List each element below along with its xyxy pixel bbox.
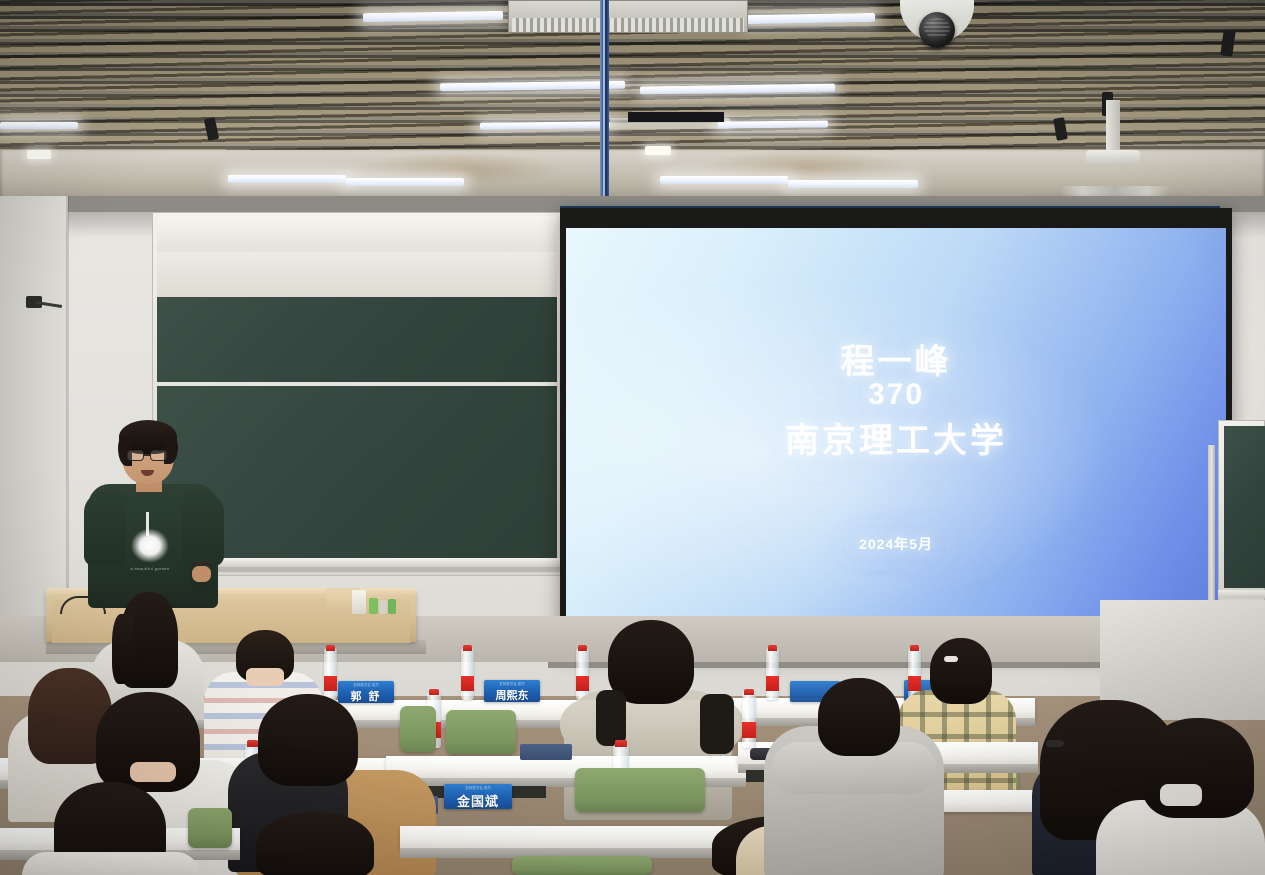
- ceiling-light-louver: [512, 18, 744, 32]
- downlight: [645, 146, 671, 155]
- audience-person-hair: [930, 638, 992, 704]
- chair[interactable]: [446, 710, 516, 754]
- bottle-cap: [744, 689, 754, 695]
- bottle-cap: [429, 689, 439, 695]
- nameplate-name: 郭 舒: [338, 688, 394, 704]
- marker-pen: [369, 598, 378, 614]
- ceiling-light-tube: [718, 120, 828, 128]
- shirt-graphic-caption: a beautiful garden: [124, 566, 176, 571]
- ceiling-light-tube: [0, 122, 78, 129]
- slide-date: 2024年5月: [566, 534, 1226, 554]
- dome-camera-ridges: [924, 18, 950, 38]
- blackboard-right-panel: [1224, 426, 1265, 588]
- audience-person-hair: [818, 678, 900, 756]
- blackboard-right-rail: [1218, 590, 1265, 598]
- wall-left-panel: [0, 196, 68, 616]
- shirt-graphic: [127, 518, 171, 564]
- blackboard-panel-upper: [157, 297, 557, 382]
- audience-person-neck: [130, 762, 176, 782]
- presenter-glasses-bridge: [144, 454, 150, 456]
- audience-person-hair: [112, 614, 134, 684]
- cup: [352, 590, 366, 614]
- audience-person-neck: [246, 668, 284, 686]
- ceiling-light-recess: [628, 112, 724, 122]
- blackboard-top-panel: [157, 216, 557, 252]
- bottle-cap: [326, 645, 335, 651]
- ceiling-light-tube: [228, 175, 346, 183]
- audience-person-hair: [258, 694, 358, 786]
- desk-row-front: [400, 826, 760, 850]
- nameplate-name: 周熙东: [484, 687, 540, 703]
- bottle-label: [461, 676, 474, 691]
- bottle-label: [576, 676, 589, 691]
- chair[interactable]: [512, 856, 652, 875]
- water-bottle: [766, 648, 779, 700]
- wall-edge: [66, 196, 69, 616]
- presenter-hand: [192, 566, 211, 582]
- bottle-cap: [910, 645, 919, 651]
- bottle-cap: [578, 645, 587, 651]
- ceiling-light-tube: [788, 180, 918, 188]
- audience-person-glasses-icon: [944, 656, 958, 662]
- presenter-glasses-icon: [150, 450, 167, 461]
- chair[interactable]: [575, 768, 705, 812]
- audience-person-glasses-icon: [1046, 740, 1064, 747]
- bottle-label: [324, 676, 337, 691]
- slide-presenter-name: 程一峰: [566, 334, 1226, 383]
- bottle-cap: [463, 645, 472, 651]
- water-bottle: [324, 648, 337, 700]
- presenter-glasses-icon: [127, 450, 144, 461]
- chair[interactable]: [188, 808, 232, 848]
- ceiling-light-tube: [660, 176, 788, 184]
- ceiling-light-tube: [480, 121, 610, 129]
- chair[interactable]: [400, 706, 436, 752]
- marker-pen: [388, 599, 396, 614]
- folder: [520, 744, 572, 760]
- lecture-hall-photo: EPSON 南 京 理 工 大 学 材料科学与工程学院 NANJING UNIV…: [0, 0, 1265, 875]
- audience-person-body: [22, 852, 200, 875]
- blackboard-slide-track: [157, 252, 557, 297]
- slide-number: 370: [566, 378, 1226, 412]
- water-bottle: [461, 648, 474, 700]
- projector-mount-pole: [1106, 100, 1120, 155]
- audience-person-shoulder: [596, 690, 626, 746]
- water-bottle: [742, 692, 756, 748]
- audience-person-shoulder: [700, 694, 734, 754]
- bottle-label: [908, 676, 921, 691]
- face-mask: [1160, 784, 1202, 806]
- downlight: [27, 150, 51, 159]
- bottle-label: [766, 676, 779, 691]
- bottle-cap: [615, 740, 627, 747]
- nameplate-name: 金国斌: [444, 791, 512, 810]
- water-bottle: [576, 648, 589, 700]
- projector-mount-plate: [1086, 150, 1140, 166]
- ceiling-light-tube: [346, 178, 464, 186]
- bottle-cap: [247, 740, 258, 747]
- marker-pen: [379, 600, 387, 614]
- bottle-label: [742, 722, 756, 738]
- presenter-arm-left: [84, 492, 126, 566]
- slide-organization: 南京理工大学: [566, 413, 1226, 462]
- bottle-cap: [768, 645, 777, 651]
- audience-person-hair: [256, 812, 374, 875]
